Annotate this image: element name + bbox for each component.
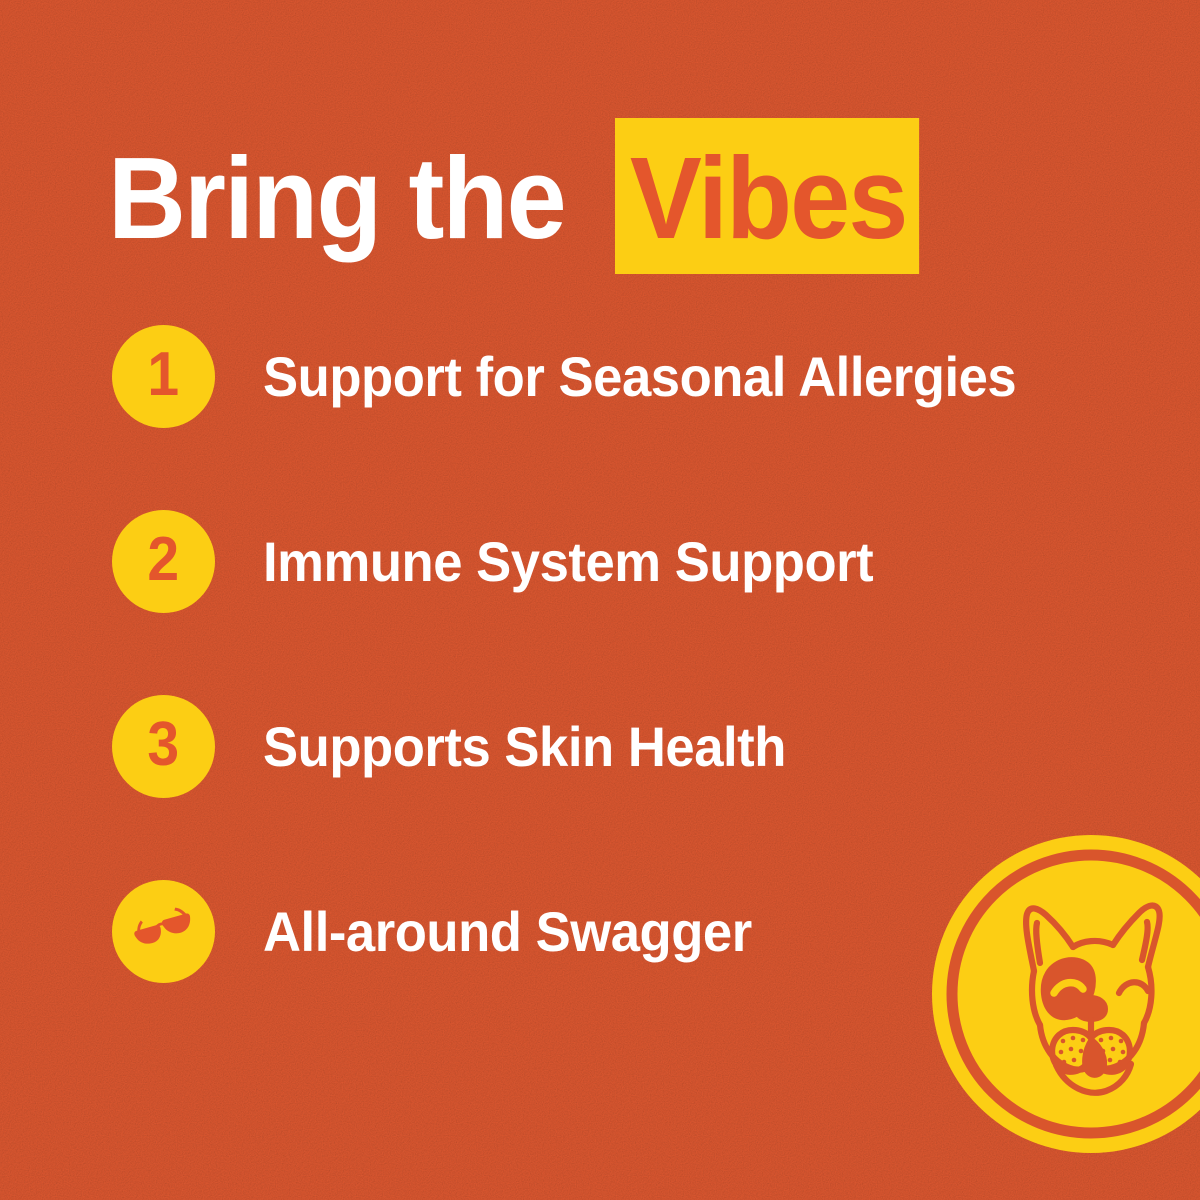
benefit-number-2: 2: [148, 529, 180, 591]
benefit-label-2: Immune System Support: [263, 529, 873, 594]
benefit-marker-2: 2: [112, 510, 215, 613]
list-item: 2 Immune System Support: [112, 510, 1112, 613]
list-item: 1 Support for Seasonal Allergies: [112, 325, 1112, 428]
benefit-marker-3: 3: [112, 695, 215, 798]
page-title-plain: Bring the: [108, 118, 565, 274]
benefit-marker-1: 1: [112, 325, 215, 428]
french-bulldog-badge-logo: [930, 833, 1200, 1155]
page-title-highlight: Vibes: [615, 118, 919, 274]
sunglasses-icon: [129, 897, 199, 967]
benefit-label-4: All-around Swagger: [263, 899, 752, 964]
benefit-number-1: 1: [148, 344, 180, 406]
poster-canvas: Bring the Vibes 1 Support for Seasonal A…: [0, 0, 1200, 1200]
benefit-label-3: Supports Skin Health: [263, 714, 786, 779]
benefit-label-1: Support for Seasonal Allergies: [263, 344, 1016, 409]
page-title: Bring the Vibes: [108, 118, 942, 274]
benefit-number-3: 3: [148, 714, 180, 776]
benefit-marker-4: [112, 880, 215, 983]
list-item: 3 Supports Skin Health: [112, 695, 1112, 798]
